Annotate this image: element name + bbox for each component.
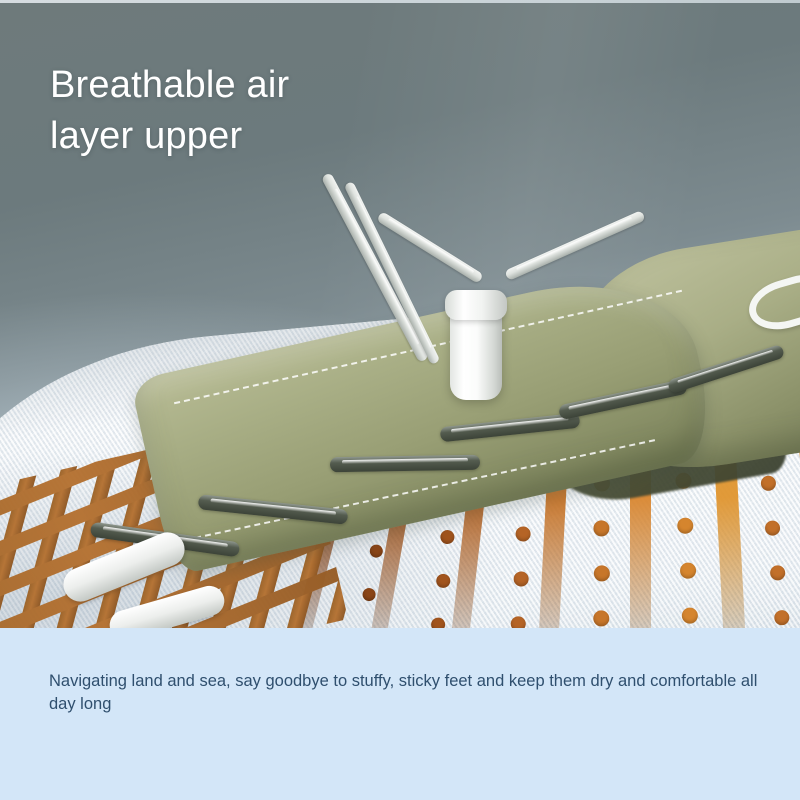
lace-layer: [0, 250, 800, 628]
product-photo: Breathable air layer upper: [0, 0, 800, 628]
caption-text: Navigating land and sea, say goodbye to …: [49, 670, 759, 716]
lace-highlight: [210, 498, 336, 515]
sneaker: [0, 250, 800, 628]
lace-highlight: [569, 383, 677, 410]
page-headline: Breathable air layer upper: [50, 60, 610, 162]
lace-cross-6: [667, 344, 785, 394]
lace-cross-2: [198, 494, 349, 525]
lace-cross-3: [330, 455, 480, 473]
aglet-left-lower: [106, 582, 228, 628]
lace-highlight: [677, 349, 774, 384]
cord-lock-toggle: [445, 290, 507, 400]
caption-band: Navigating land and sea, say goodbye to …: [0, 628, 800, 800]
toggle-cap: [445, 290, 507, 320]
toggle-body: [450, 306, 502, 400]
lace-highlight: [451, 417, 568, 433]
lace-cross-4: [440, 413, 581, 443]
top-hairline: [0, 0, 800, 3]
lace-highlight: [342, 458, 468, 464]
product-poster: Breathable air layer upper Navigating la…: [0, 0, 800, 800]
